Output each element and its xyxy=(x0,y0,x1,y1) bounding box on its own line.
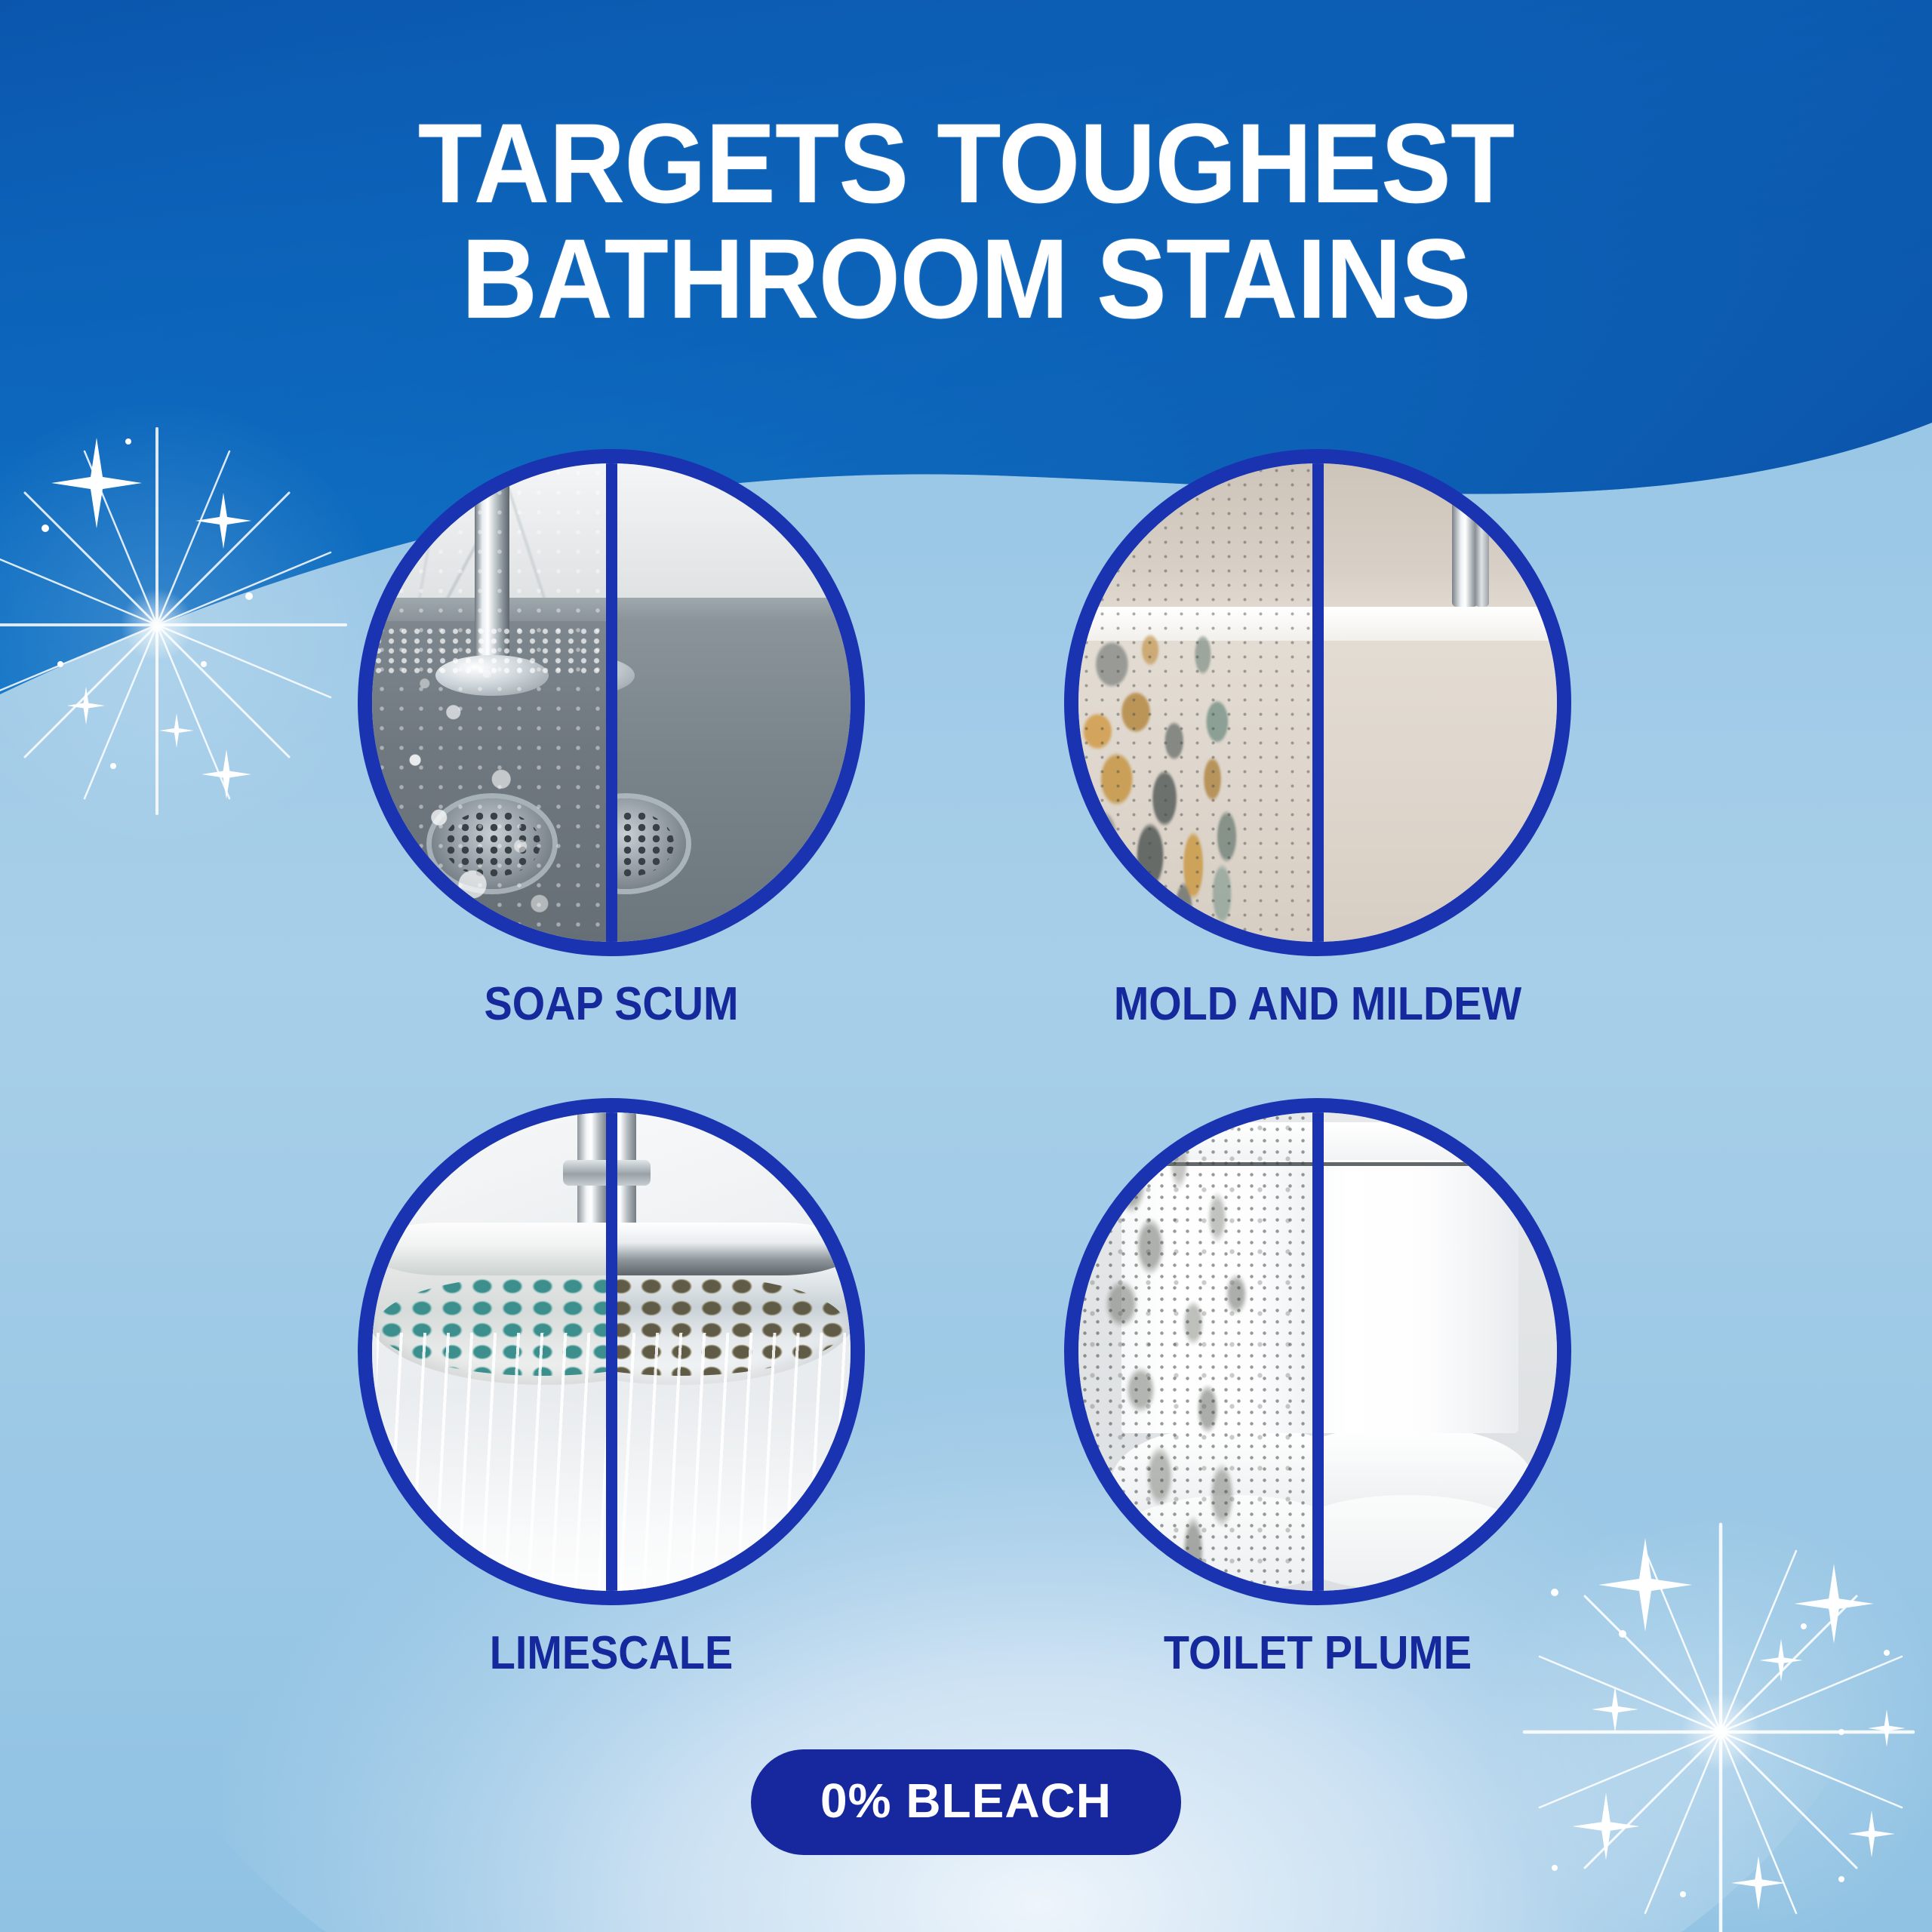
stain-tiles-grid: SOAP SCUM xyxy=(0,449,1932,1747)
faucet-icon xyxy=(1452,473,1478,608)
split-divider xyxy=(1312,463,1324,942)
headline-line-1: TARGETS TOUGHEST xyxy=(418,100,1515,226)
tile-caption: SOAP SCUM xyxy=(302,977,921,1031)
split-divider xyxy=(606,463,617,942)
before-after-circle xyxy=(358,449,865,956)
headline-line-2: BATHROOM STAINS xyxy=(68,221,1865,337)
sink-clean-scene xyxy=(611,463,851,942)
showerhead-clean-scene xyxy=(611,1112,851,1591)
after-half xyxy=(611,463,851,942)
showerhead-limescaled-scene xyxy=(372,1112,611,1591)
before-after-circle xyxy=(1064,449,1571,956)
wall-moldy-scene xyxy=(1078,463,1318,942)
tile-caption: LIMESCALE xyxy=(302,1626,921,1680)
before-half xyxy=(372,463,611,942)
tile-mold-and-mildew[interactable]: MOLD AND MILDEW xyxy=(1054,449,1582,956)
split-divider xyxy=(606,1112,617,1591)
split-divider xyxy=(1312,1112,1324,1591)
tile-caption: MOLD AND MILDEW xyxy=(1008,977,1628,1031)
after-half xyxy=(611,1112,851,1591)
sink-dirty-scene xyxy=(372,463,611,942)
tiles-row-2: LIMESCALE xyxy=(0,1098,1932,1747)
tile-soap-scum[interactable]: SOAP SCUM xyxy=(347,449,875,956)
before-after-circle xyxy=(1064,1098,1571,1605)
after-half xyxy=(1318,1112,1557,1591)
infographic-canvas: TARGETS TOUGHEST BATHROOM STAINS xyxy=(0,0,1932,1932)
tile-toilet-plume[interactable]: TOILET PLUME xyxy=(1054,1098,1582,1605)
wall-clean-scene xyxy=(1318,463,1557,942)
page-title: TARGETS TOUGHEST BATHROOM STAINS xyxy=(68,106,1865,337)
before-half xyxy=(1078,1112,1318,1591)
status-badge: 0% BLEACH xyxy=(751,1749,1181,1855)
soap-scum-overlay xyxy=(372,463,611,942)
tile-limescale[interactable]: LIMESCALE xyxy=(347,1098,875,1605)
before-half xyxy=(372,1112,611,1591)
before-half xyxy=(1078,463,1318,942)
tile-caption: TOILET PLUME xyxy=(1008,1626,1628,1680)
tiles-row-1: SOAP SCUM xyxy=(0,449,1932,1098)
after-half xyxy=(1318,463,1557,942)
toilet-dirty-scene xyxy=(1078,1112,1318,1591)
toilet-clean-scene xyxy=(1318,1112,1557,1591)
before-after-circle xyxy=(358,1098,865,1605)
